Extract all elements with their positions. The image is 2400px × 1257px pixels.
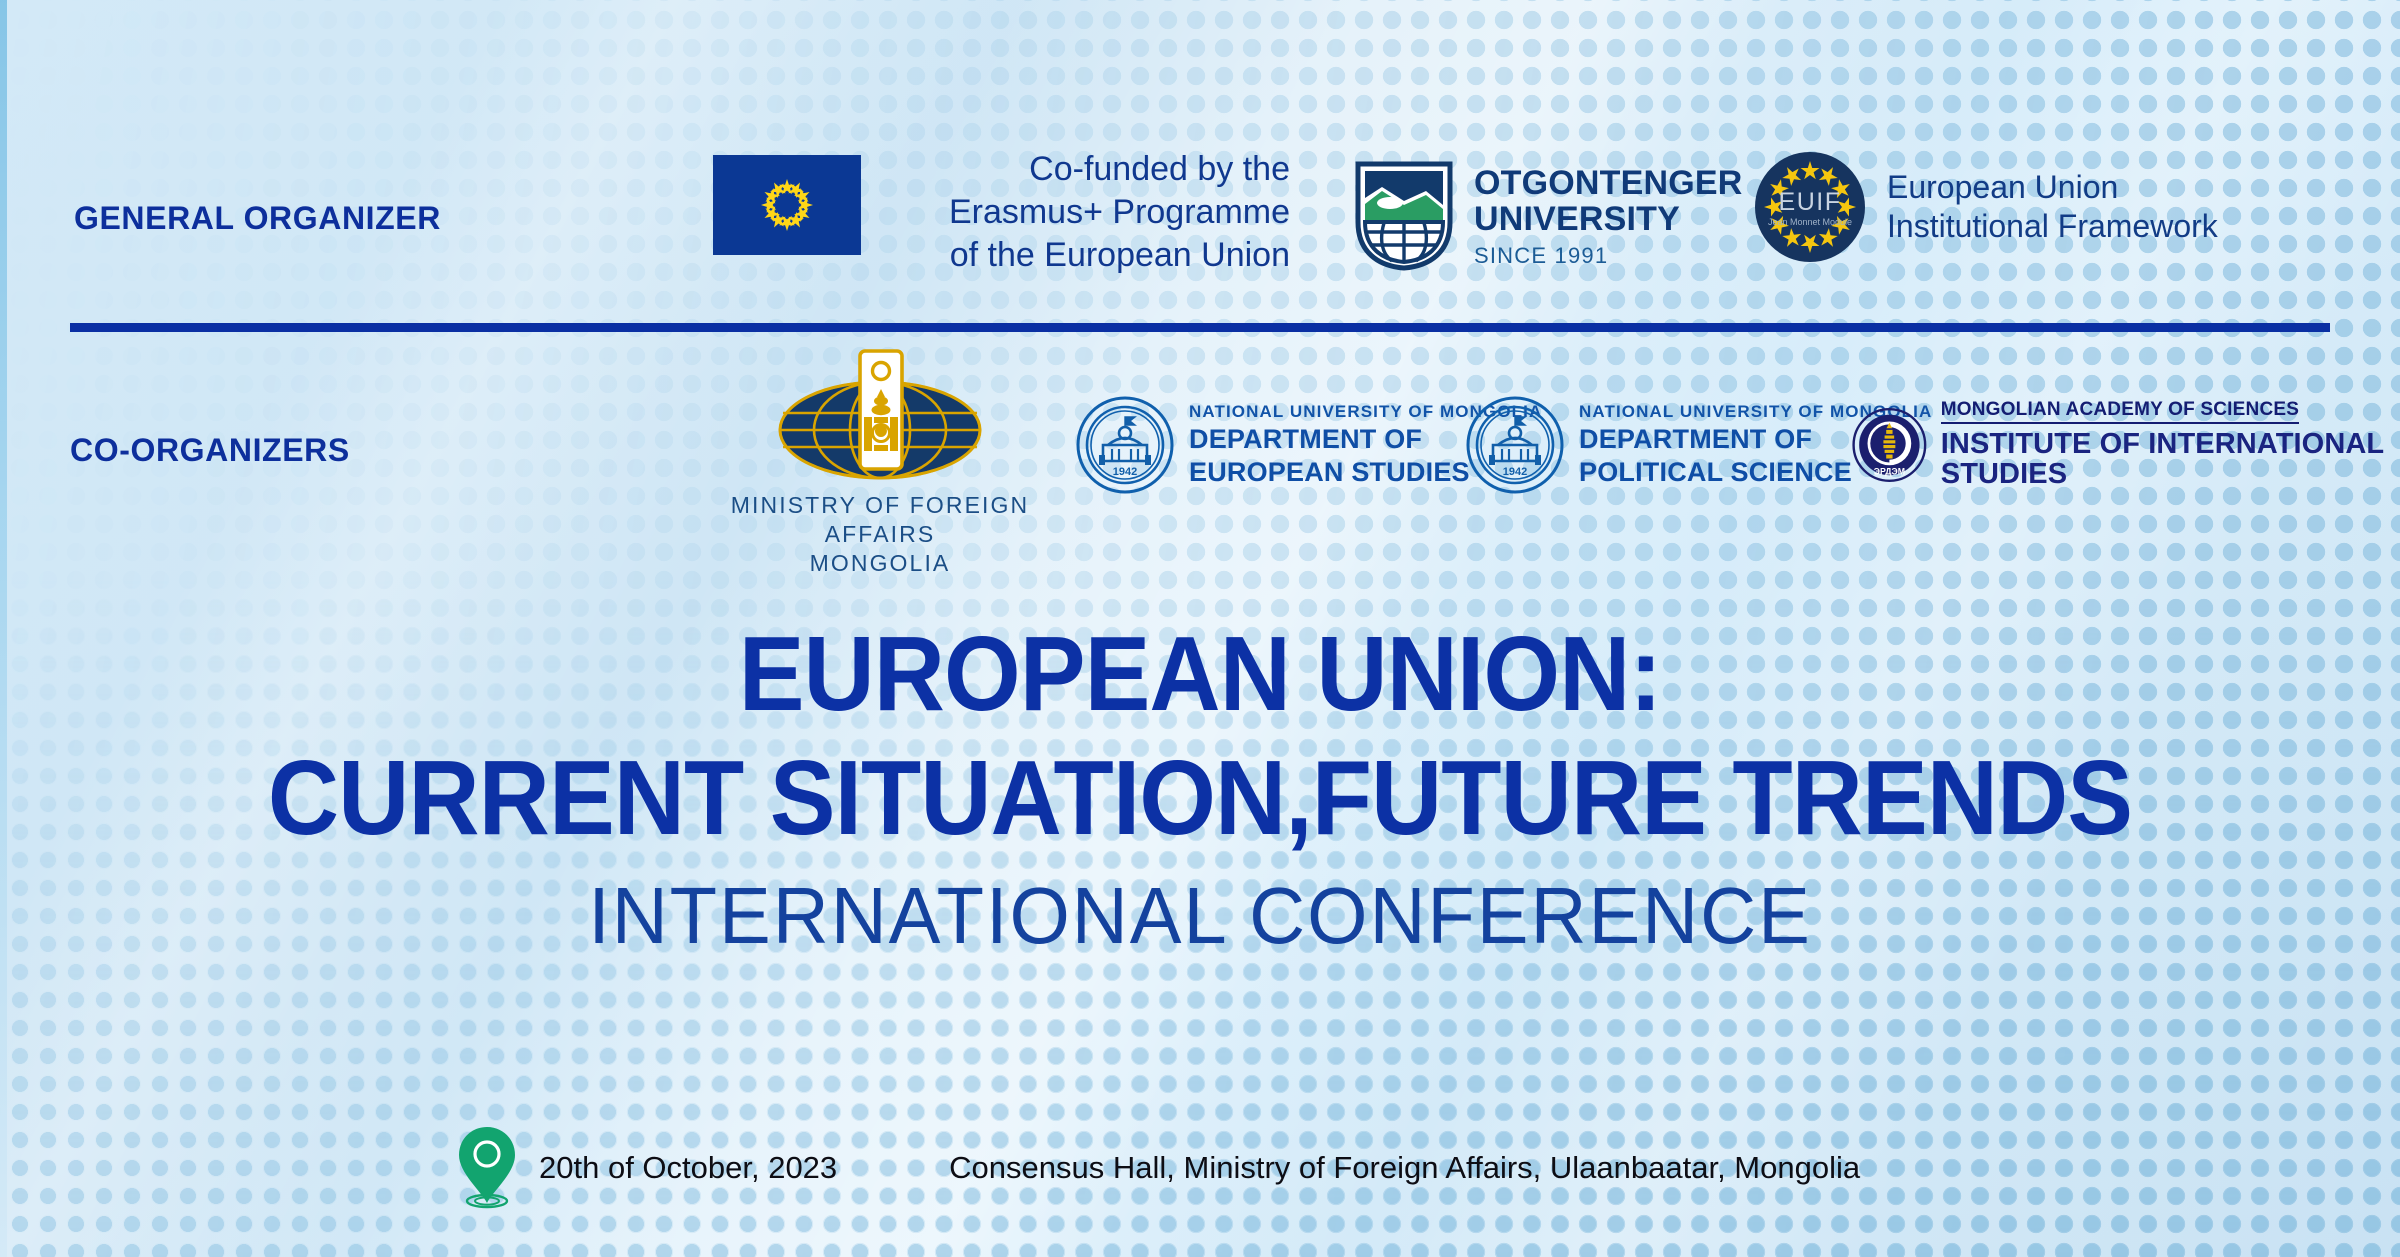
section-divider: [70, 323, 2330, 332]
mas-seal-text: ЭРДЭМ: [1874, 466, 1905, 476]
num-seal-year: 1942: [1113, 466, 1137, 478]
erasmus-line-3: of the European Union: [890, 234, 1290, 277]
euif-circle-stars-icon: EUIF Jean Monnet Module: [1755, 152, 1865, 262]
otgontenger-line-2: UNIVERSITY: [1474, 201, 1743, 237]
euif-jean-monnet-logo: EUIF Jean Monnet Module European Union I…: [1755, 152, 2218, 262]
otgontenger-text-block: OTGONTENGER UNIVERSITY SINCE 1991: [1474, 165, 1743, 267]
mfa-globe-soyombo-icon: [750, 345, 1010, 480]
euif-mark-text: EUIF: [1779, 188, 1842, 216]
title-line-1: EUROPEAN UNION:: [84, 620, 2316, 728]
mfa-caption: MINISTRY OF FOREIGN AFFAIRS MONGOLIA: [690, 491, 1070, 577]
erasmus-funding-statement: Co-funded by the Erasmus+ Programme of t…: [890, 148, 1290, 278]
euif-line-1: European Union: [1887, 168, 2218, 207]
erasmus-line-2: Erasmus+ Programme: [890, 191, 1290, 234]
mas-main: INSTITUTE OF INTERNATIONAL STUDIES: [1941, 429, 2400, 490]
ministry-of-foreign-affairs-logo: MINISTRY OF FOREIGN AFFAIRS MONGOLIA: [690, 345, 1070, 577]
mas-text-block: MONGOLIAN ACADEMY OF SCIENCES INSTITUTE …: [1941, 400, 2400, 490]
euif-mark-subtext: Jean Monnet Module: [1768, 217, 1852, 227]
mongolian-academy-of-sciences-logo: ЭРДЭМ MONGOLIAN ACADEMY OF SCIENCES INST…: [1852, 398, 2400, 492]
conference-title-block: EUROPEAN UNION: CURRENT SITUATION,FUTURE…: [0, 620, 2400, 956]
erasmus-line-1: Co-funded by the: [890, 148, 1290, 191]
conference-banner: GENERAL ORGANIZER Co-fu: [0, 0, 2400, 1257]
mas-seal-icon: ЭРДЭМ: [1852, 398, 1927, 492]
euif-line-2: Institutional Framework: [1887, 207, 2218, 246]
num-seal-icon: 1942: [1075, 395, 1175, 495]
mfa-line-2: MONGOLIA: [690, 549, 1070, 578]
event-date: 20th of October, 2023: [539, 1150, 837, 1186]
otgontenger-shield-icon: [1352, 160, 1456, 272]
co-organizers-label: CO-ORGANIZERS: [70, 432, 350, 469]
general-organizer-label: GENERAL ORGANIZER: [74, 200, 441, 237]
otgontenger-line-1: OTGONTENGER: [1474, 165, 1743, 201]
otgontenger-since: SINCE 1991: [1474, 244, 1743, 267]
num-seal-icon: 1942: [1465, 395, 1565, 495]
otgontenger-university-logo: OTGONTENGER UNIVERSITY SINCE 1991: [1352, 160, 1743, 272]
conference-subtitle: INTERNATIONAL CONFERENCE: [36, 876, 2364, 956]
event-venue: Consensus Hall, Ministry of Foreign Affa…: [949, 1150, 1860, 1186]
title-line-2: CURRENT SITUATION,FUTURE TRENDS: [84, 744, 2316, 852]
euif-text-block: European Union Institutional Framework: [1887, 168, 2218, 246]
european-union-flag-icon: [713, 155, 861, 255]
event-details: 20th of October, 2023 Consensus Hall, Mi…: [455, 1125, 1860, 1211]
num-seal-year: 1942: [1503, 466, 1527, 478]
mfa-line-1: MINISTRY OF FOREIGN AFFAIRS: [690, 491, 1070, 549]
location-pin-icon: [455, 1125, 519, 1211]
mas-top: MONGOLIAN ACADEMY OF SCIENCES: [1941, 400, 2299, 424]
